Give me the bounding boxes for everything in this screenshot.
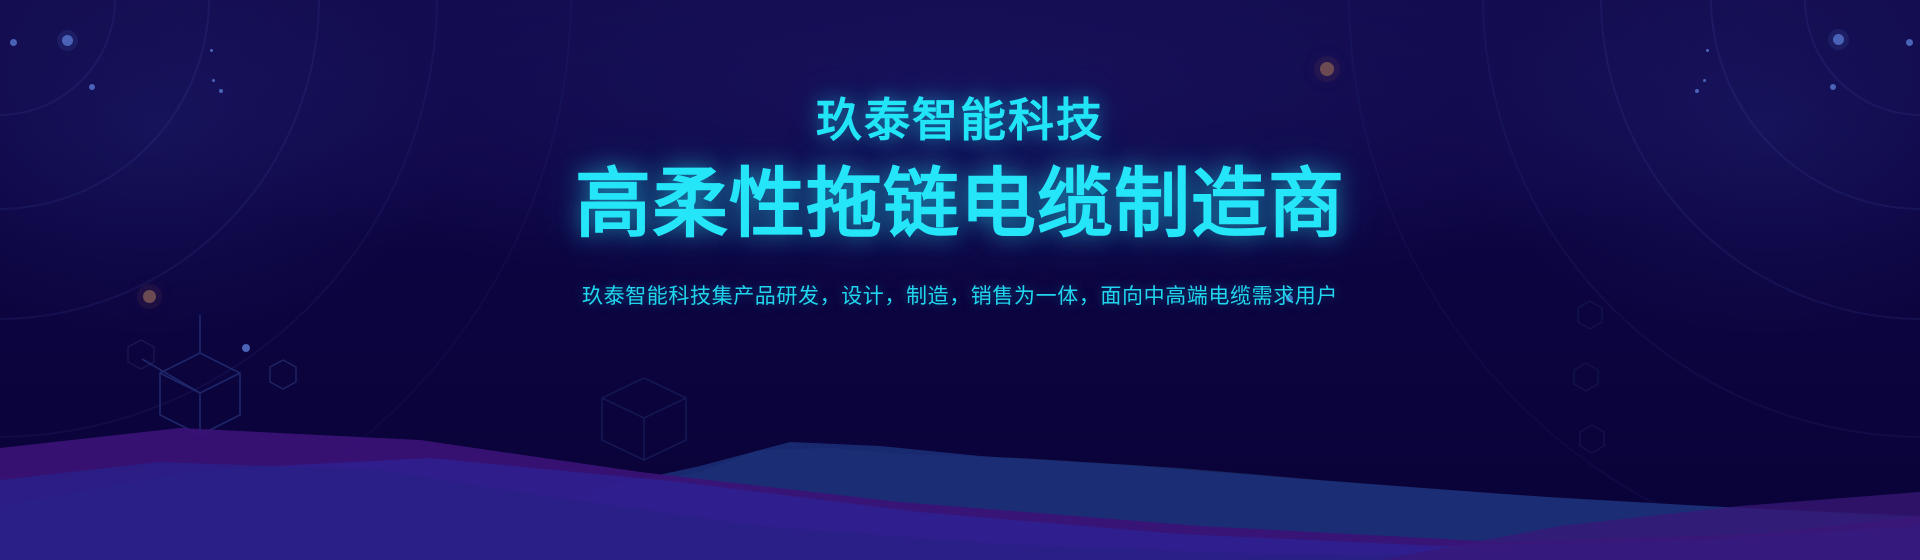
hero-subtitle: 玖泰智能科技集产品研发，设计，制造，销售为一体，面向中高端电缆需求用户: [0, 281, 1920, 313]
page-title: 高柔性拖链电缆制造商: [0, 162, 1920, 247]
hero-content: 玖泰智能科技 高柔性拖链电缆制造商 玖泰智能科技集产品研发，设计，制造，销售为一…: [0, 96, 1920, 313]
brand-name: 玖泰智能科技: [0, 96, 1920, 144]
hero-banner: 玖泰智能科技 高柔性拖链电缆制造商 玖泰智能科技集产品研发，设计，制造，销售为一…: [0, 0, 1920, 560]
